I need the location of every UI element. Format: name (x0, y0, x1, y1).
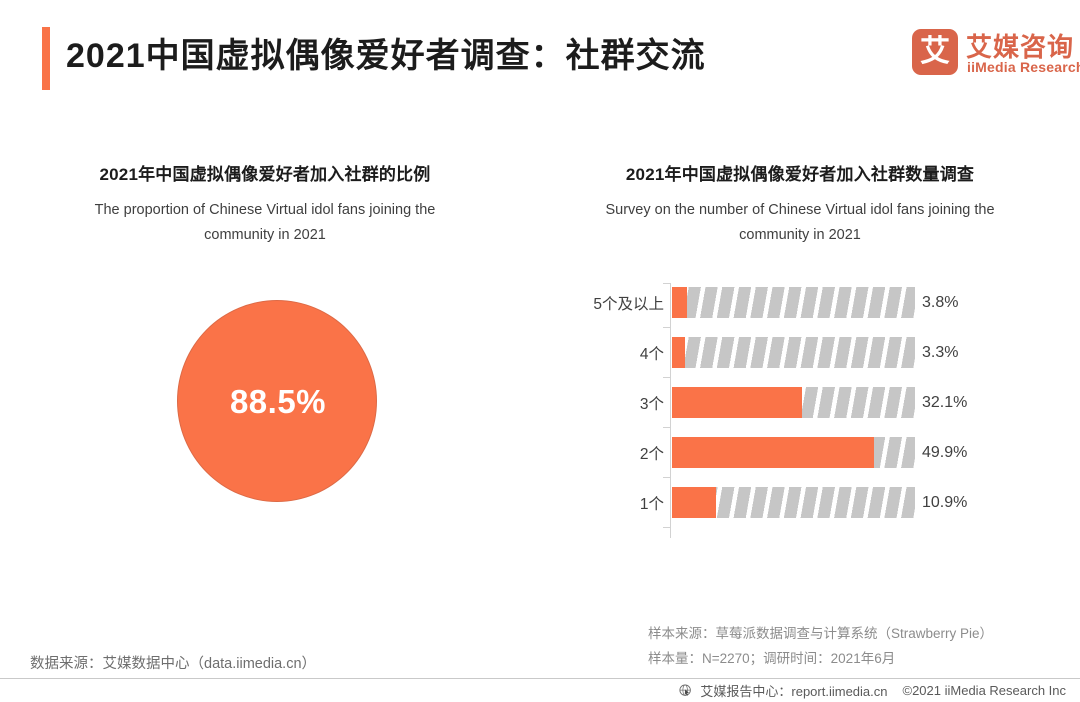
page-title: 2021中国虚拟偶像爱好者调查：社群交流 (66, 28, 706, 77)
iimedia-logo-icon: 艾 (912, 29, 958, 75)
note-data-source: 数据来源：艾媒数据中心（data.iimedia.cn） (30, 652, 316, 673)
bar-category-label: 5个及以上 (560, 287, 664, 318)
bar-track (672, 287, 915, 318)
bar-value-label: 10.9% (922, 487, 967, 518)
bar-category-label: 4个 (560, 337, 664, 368)
bar-fill (672, 337, 685, 368)
brand-name-en: iiMedia Research (967, 59, 1080, 75)
footer-copyright: ©2021 iiMedia Research Inc (903, 683, 1067, 698)
note-sample-size: 样本量：N=2270；调研时间：2021年6月 (648, 647, 1048, 672)
bar-value-label: 32.1% (922, 387, 967, 418)
page-header: 2021中国虚拟偶像爱好者调查：社群交流 艾 艾媒咨询 iiMedia Rese… (0, 0, 1080, 118)
bar-value-label: 3.3% (922, 337, 958, 368)
panel-right-title-cn: 2021年中国虚拟偶像爱好者加入社群数量调查 (560, 160, 1040, 185)
panel-right-title-en: Survey on the number of Chinese Virtual … (560, 198, 1040, 249)
header-accent-bar (42, 27, 50, 90)
globe-cursor-icon (679, 684, 693, 698)
bar-track (672, 437, 915, 468)
brand-logo: 艾 艾媒咨询 iiMedia Research (912, 27, 1064, 85)
bar-track (672, 387, 915, 418)
axis-tick (663, 527, 671, 528)
bar-row: 1个10.9% (560, 487, 1040, 518)
axis-tick (663, 477, 671, 478)
page-footer: 艾媒报告中心：report.iimedia.cn ©2021 iiMedia R… (0, 679, 1080, 702)
panel-proportion: 2021年中国虚拟偶像爱好者加入社群的比例 The proportion of … (30, 160, 500, 249)
axis-tick (663, 283, 671, 284)
axis-tick (663, 377, 671, 378)
bar-category-label: 3个 (560, 387, 664, 418)
bar-track (672, 337, 915, 368)
bar-fill (672, 387, 802, 418)
note-sample-source: 样本来源：草莓派数据调查与计算系统（Strawberry Pie） (648, 622, 1048, 647)
panel-group-count: 2021年中国虚拟偶像爱好者加入社群数量调查 Survey on the num… (560, 160, 1040, 249)
bar-row: 2个49.9% (560, 437, 1040, 468)
axis-tick (663, 427, 671, 428)
axis-tick (663, 327, 671, 328)
pie-value-label: 88.5% (178, 301, 378, 503)
panel-left-title-cn: 2021年中国虚拟偶像爱好者加入社群的比例 (30, 160, 500, 185)
panel-left-title-en: The proportion of Chinese Virtual idol f… (30, 198, 500, 249)
pie-slice-joined: 88.5% (177, 300, 377, 502)
bar-fill (672, 437, 874, 468)
bar-chart-group-count: 5个及以上3.8%4个3.3%3个32.1%2个49.9%1个10.9% (560, 280, 1040, 545)
bar-category-label: 1个 (560, 487, 664, 518)
pie-chart-proportion: 88.5% (30, 300, 500, 520)
bar-value-label: 49.9% (922, 437, 967, 468)
bar-fill (672, 287, 687, 318)
footer-report-center: 艾媒报告中心：report.iimedia.cn (700, 681, 887, 700)
bar-row: 5个及以上3.8% (560, 287, 1040, 318)
bar-track (672, 487, 915, 518)
bar-value-label: 3.8% (922, 287, 958, 318)
bar-row: 3个32.1% (560, 387, 1040, 418)
bar-category-label: 2个 (560, 437, 664, 468)
bar-fill (672, 487, 716, 518)
chart-footnotes: 样本来源：草莓派数据调查与计算系统（Strawberry Pie） 样本量：N=… (648, 622, 1048, 672)
bar-row: 4个3.3% (560, 337, 1040, 368)
